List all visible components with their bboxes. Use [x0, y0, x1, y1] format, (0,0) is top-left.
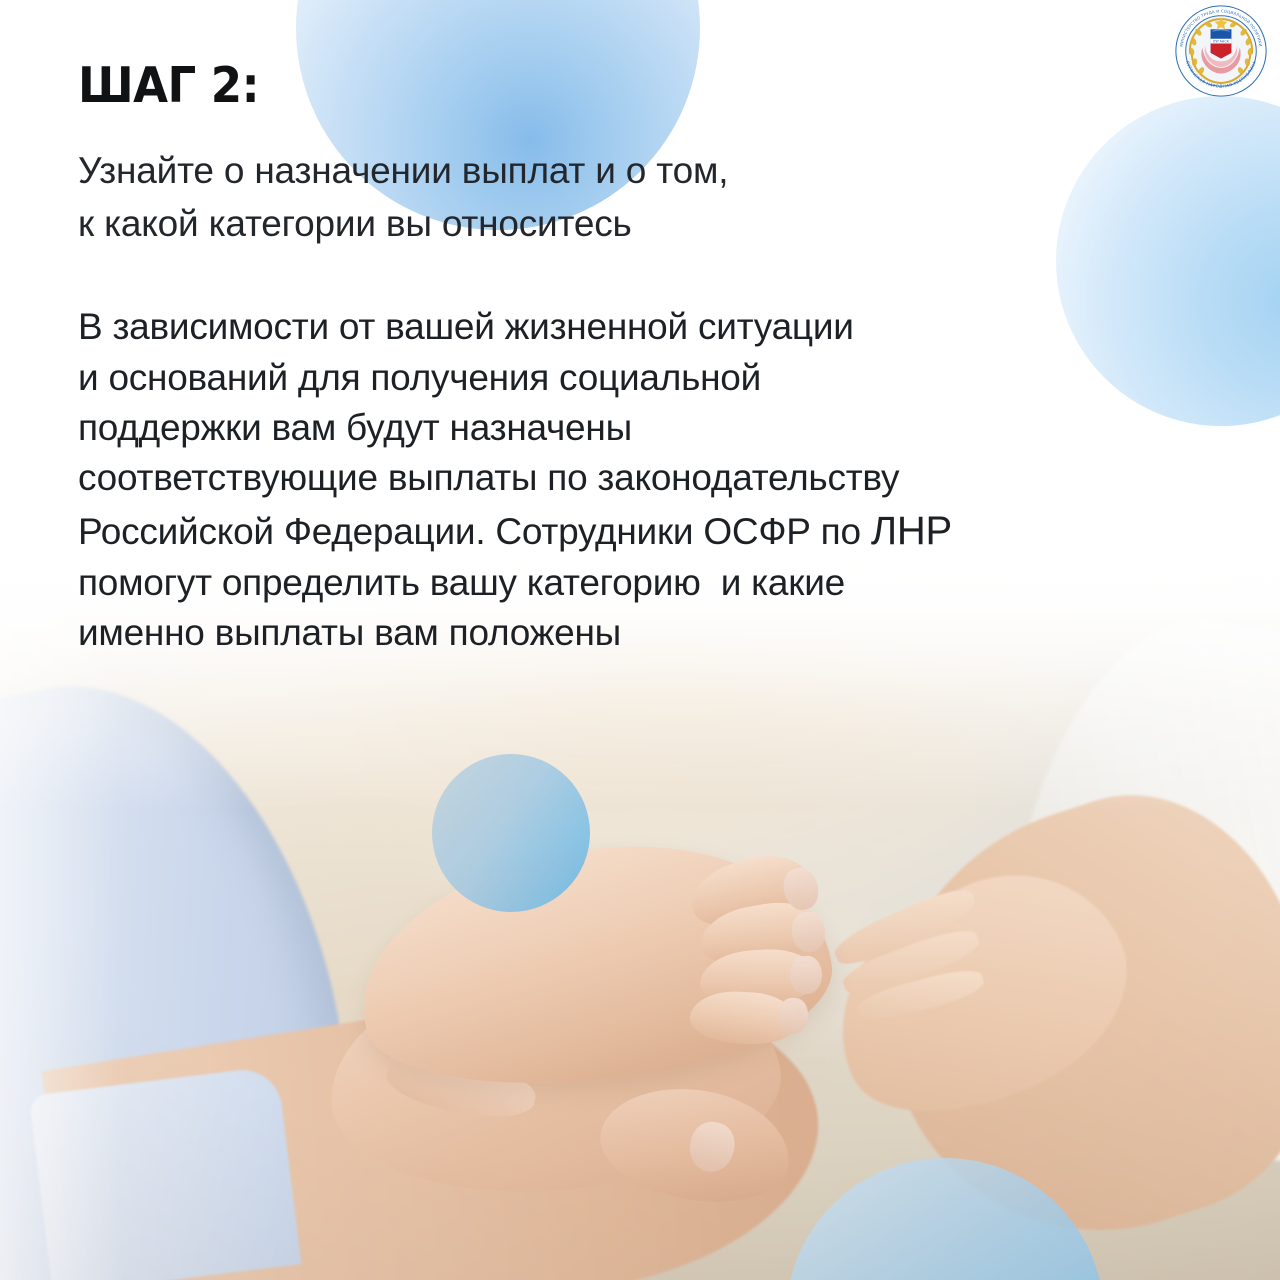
- body-line-7: именно выплаты вам положены: [78, 608, 1228, 658]
- text-content: ШАГ 2: Узнайте о назначении выплат и о т…: [78, 0, 1228, 659]
- body-line-5: Российской Федерации. Сотрудники ОСФР по…: [78, 504, 1228, 558]
- body-line-4: соответствующие выплаты по законодательс…: [78, 453, 1228, 503]
- lede-paragraph: Узнайте о назначении выплат и о том, к к…: [78, 113, 1228, 251]
- body-line-1: В зависимости от вашей жизненной ситуаци…: [78, 302, 1228, 352]
- body-line-5-text: Российской Федерации. Сотрудники ОСФР по: [78, 511, 871, 552]
- lede-line-2: к какой категории вы относитесь: [78, 197, 1228, 250]
- poster-canvas: МИНИСТЕРСТВО ТРУДА И СОЦИАЛЬНОЙ ПОЛИТИКИ…: [0, 0, 1280, 1280]
- body-line-6: помогут определить вашу категорию и каки…: [78, 558, 1228, 608]
- lede-line-1: Узнайте о назначении выплат и о том,: [78, 144, 1228, 197]
- page-title: ШАГ 2:: [78, 0, 1136, 113]
- body-line-2: и оснований для получения социальной: [78, 353, 1228, 403]
- fingernail-3: [789, 955, 822, 994]
- body-paragraph: В зависимости от вашей жизненной ситуаци…: [78, 250, 1228, 658]
- abbr-lnr: ЛНР: [871, 509, 952, 553]
- photo-left-white-fade: [0, 560, 120, 1280]
- supporting-hands-photo: [0, 560, 1280, 1280]
- body-line-3: поддержки вам будут назначены: [78, 403, 1228, 453]
